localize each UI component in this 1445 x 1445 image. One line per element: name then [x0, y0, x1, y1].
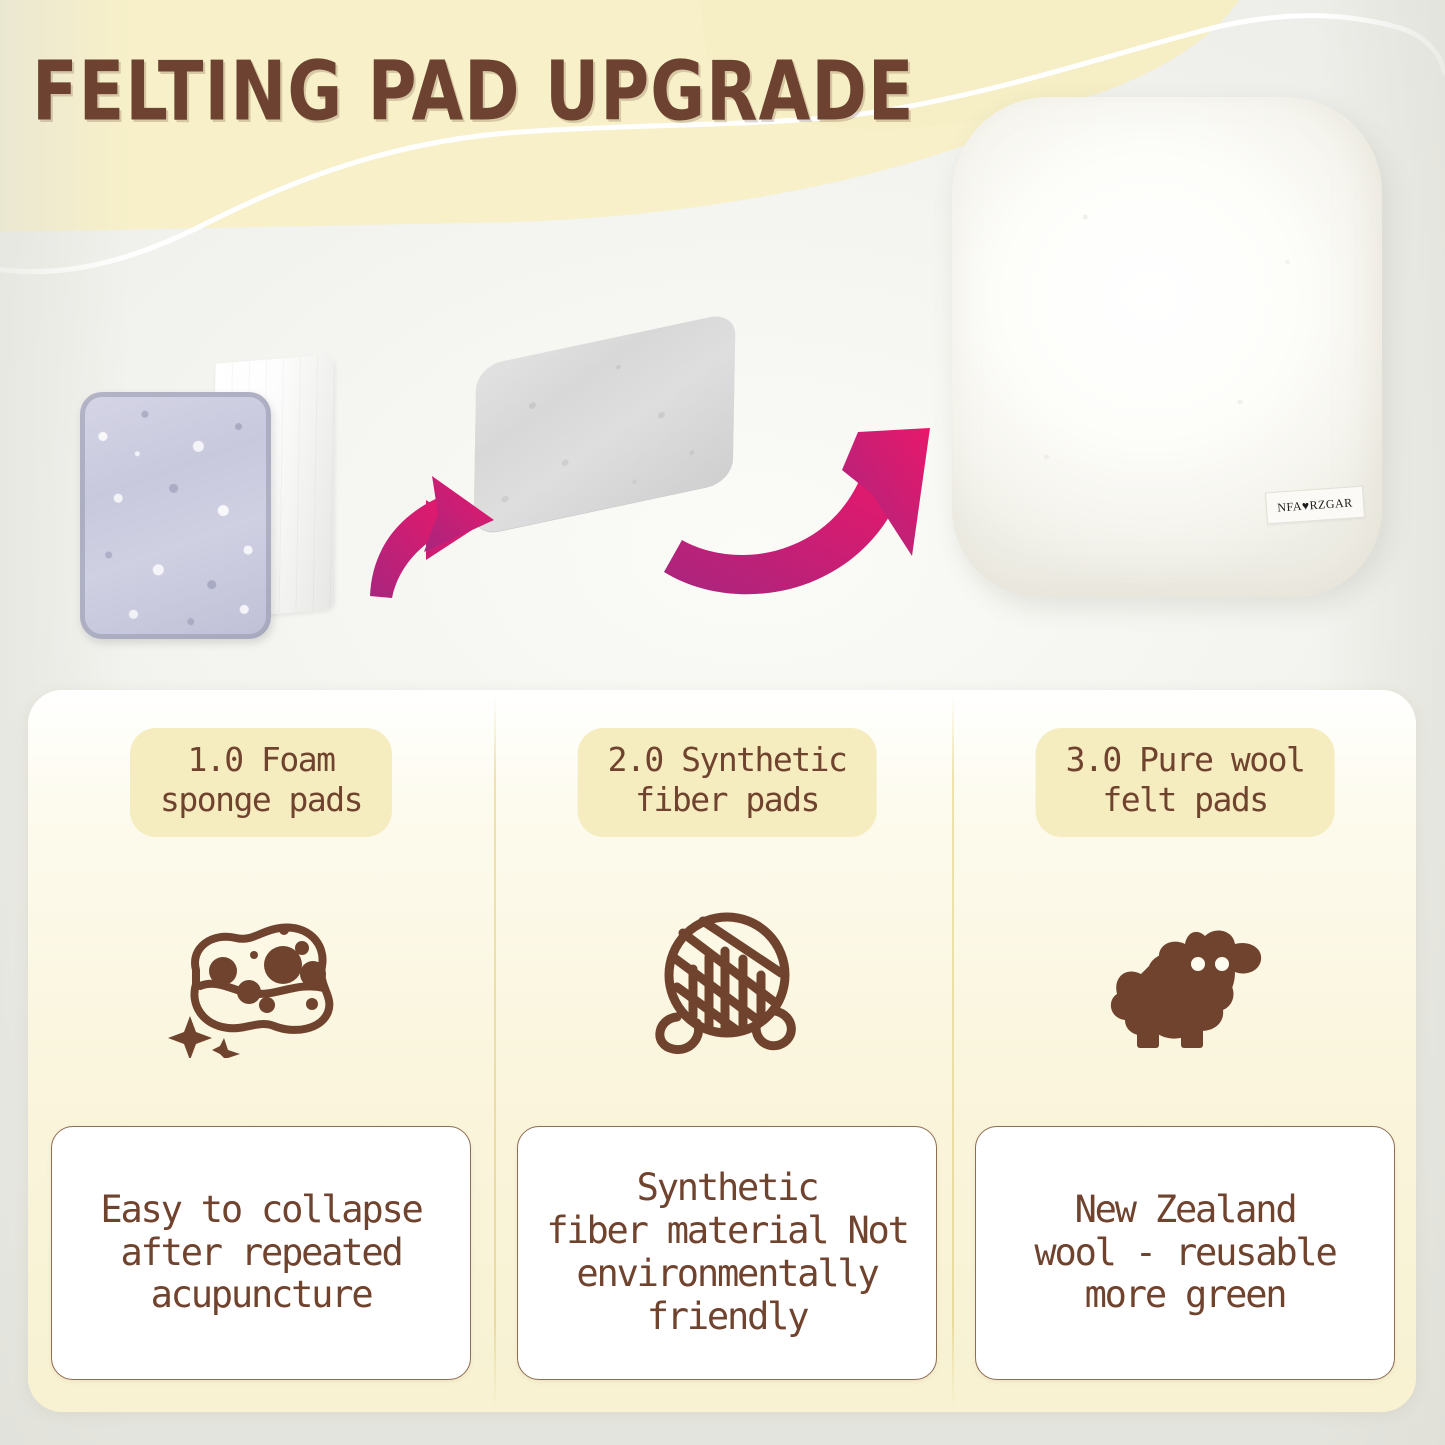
description-line: acupuncture	[100, 1274, 421, 1317]
description-line: environmentally	[546, 1253, 907, 1296]
description-line: New Zealand	[1034, 1189, 1335, 1232]
felt-stack-top	[473, 312, 735, 537]
yarn-ball-icon	[627, 905, 827, 1060]
comparison-column-foam: 1.0 Foam sponge pads	[28, 690, 494, 1412]
heading-line: fiber pads	[608, 780, 847, 820]
description-line: friendly	[546, 1296, 907, 1339]
comparison-column-wool: 3.0 Pure wool felt pads	[952, 690, 1416, 1412]
wool-texture	[952, 97, 1382, 597]
wool-felt-pad-photo: NFA♥RZGAR	[952, 97, 1382, 597]
description-card-foam: Easy to collapse after repeated acupunct…	[51, 1126, 471, 1380]
sponge-icon	[161, 905, 361, 1060]
heading-line: 1.0 Foam	[160, 740, 362, 780]
brand-tag-label: NFA♥RZGAR	[1277, 495, 1353, 515]
synthetic-felt-pad-stack-photo	[462, 320, 822, 610]
felt-texture	[473, 312, 735, 537]
description-line: more green	[1034, 1274, 1335, 1317]
upgrade-arrow-1-body	[370, 496, 452, 598]
description-line: fiber material Not	[546, 1210, 907, 1253]
sponge-texture	[80, 392, 271, 639]
description-text: Synthetic fiber material Not environment…	[540, 1163, 913, 1343]
heading-line: sponge pads	[160, 780, 362, 820]
description-line: Easy to collapse	[100, 1189, 421, 1232]
heading-line: 3.0 Pure wool	[1066, 740, 1305, 780]
heading-pill-synthetic: 2.0 Synthetic fiber pads	[578, 728, 877, 837]
heading-line: felt pads	[1066, 780, 1305, 820]
product-infographic-poster: FELTING PAD UPGRADE NFA♥RZGAR	[0, 0, 1445, 1445]
description-line: Synthetic	[546, 1167, 907, 1210]
description-text: New Zealand wool - reusable more green	[1028, 1185, 1341, 1322]
heading-pill-wool: 3.0 Pure wool felt pads	[1036, 728, 1335, 837]
comparison-panel: 1.0 Foam sponge pads	[28, 690, 1416, 1412]
sheep-icon	[1085, 905, 1285, 1060]
product-photo-row: NFA♥RZGAR	[0, 0, 1445, 680]
upgrade-arrow-2-head	[842, 428, 930, 556]
description-line: after repeated	[100, 1232, 421, 1275]
upgrade-arrow-1	[372, 500, 472, 594]
comparison-column-synthetic: 2.0 Synthetic fiber pads	[494, 690, 960, 1412]
description-line: wool - reusable	[1034, 1232, 1335, 1275]
heading-line: 2.0 Synthetic	[608, 740, 847, 780]
brand-tag: NFA♥RZGAR	[1265, 486, 1365, 525]
lavender-sponge-pad	[80, 392, 271, 639]
heading-pill-foam: 1.0 Foam sponge pads	[130, 728, 392, 837]
description-card-synthetic: Synthetic fiber material Not environment…	[517, 1126, 937, 1380]
foam-sponge-pad-photo	[72, 363, 372, 648]
description-text: Easy to collapse after repeated acupunct…	[94, 1185, 427, 1322]
description-card-wool: New Zealand wool - reusable more green	[975, 1126, 1395, 1380]
